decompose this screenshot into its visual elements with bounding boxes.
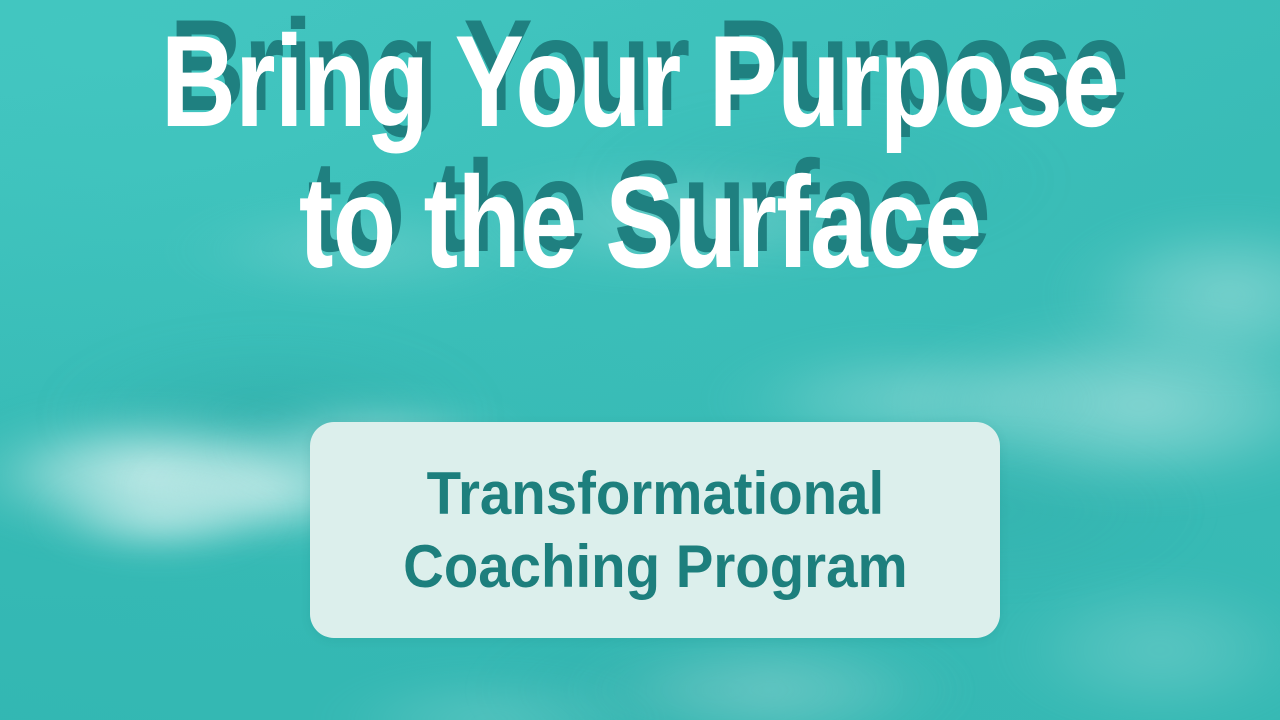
subtitle-line-2: Coaching Program — [403, 530, 908, 603]
slide-canvas: Bring Your Purpose to the Surface Transf… — [0, 0, 1280, 720]
headline-line-2: to the Surface — [128, 159, 1152, 286]
headline-line-1: Bring Your Purpose — [128, 18, 1152, 145]
headline: Bring Your Purpose to the Surface — [128, 18, 1152, 287]
subtitle-line-1: Transformational — [426, 457, 884, 530]
subtitle-card: Transformational Coaching Program — [310, 422, 1000, 638]
